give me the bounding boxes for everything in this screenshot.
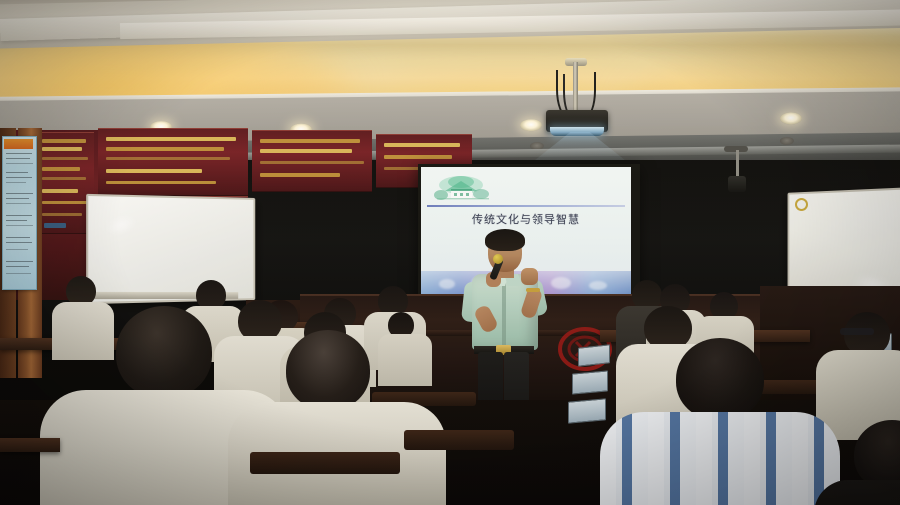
whiteboard-left — [86, 194, 255, 304]
banner-board-3 — [252, 130, 372, 192]
desk-front-left — [0, 438, 60, 452]
laptop-screen-3[interactable] — [568, 398, 606, 423]
laptop-screen-2[interactable] — [572, 370, 608, 394]
banner-board-2 — [98, 128, 248, 196]
lecture-hall-photo: 传统文化与领导智慧 — [0, 0, 900, 505]
laptop-screen-1[interactable] — [578, 344, 610, 366]
slide-title: 传统文化与领导智慧 — [421, 211, 631, 227]
academy-building-logo-icon — [431, 173, 495, 203]
poster-header-band — [4, 139, 33, 149]
ceiling-fixture-4 — [780, 137, 794, 145]
eyeglasses-icon — [840, 328, 874, 335]
ceiling-spotlight — [728, 176, 746, 192]
microphone-head-icon — [493, 254, 503, 264]
spotlight-rod — [736, 150, 739, 178]
presenter-hair — [485, 229, 525, 251]
slide-divider-rule — [427, 205, 625, 207]
chair-front-1 — [404, 430, 514, 450]
blue-notice-poster — [2, 136, 37, 290]
downlight-4 — [780, 112, 802, 124]
chair-front-2 — [250, 452, 400, 474]
presenter-raised-fist — [521, 268, 538, 285]
whiteboard-right-marker-dot-icon — [795, 198, 808, 211]
presenter-wristwatch — [526, 288, 540, 292]
presenter-shirt-placket — [502, 276, 506, 348]
